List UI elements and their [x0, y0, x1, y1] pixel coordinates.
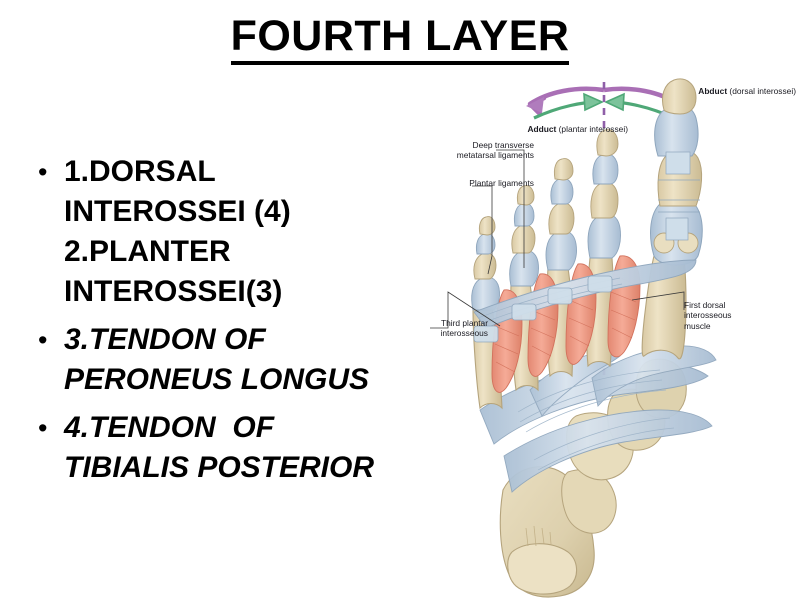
list-item-line: 4.TENDON OF [64, 408, 418, 448]
adduct-label-rest: (plantar interossei) [556, 124, 628, 134]
bullet-marker-icon: • [38, 320, 64, 360]
first-dorsal-interosseous-label: First dorsal interosseous muscle [684, 300, 794, 331]
page-title: FOURTH LAYER [231, 14, 570, 65]
adduct-label-bold: Adduct [527, 124, 556, 134]
foot-anatomy-figure: Abduct (dorsal interossei) Adduct (plant… [408, 60, 800, 600]
bullet-marker-icon: • [38, 152, 64, 192]
list-item: • 1.DORSAL INTEROSSEI (4) 2.PLANTER INTE… [38, 152, 418, 312]
page-title-block: FOURTH LAYER [0, 14, 800, 65]
list-item-text: 4.TENDON OF TIBIALIS POSTERIOR [64, 408, 418, 488]
bullet-marker-icon: • [38, 408, 64, 448]
list-item-text: 1.DORSAL INTEROSSEI (4) 2.PLANTER INTERO… [64, 152, 418, 312]
slide-canvas: FOURTH LAYER • 1.DORSAL INTEROSSEI (4) 2… [0, 0, 800, 600]
deep-transverse-ligaments-label: Deep transverse metatarsal ligaments [408, 140, 534, 161]
bullet-list: • 1.DORSAL INTEROSSEI (4) 2.PLANTER INTE… [38, 152, 418, 496]
list-item: • 4.TENDON OF TIBIALIS POSTERIOR [38, 408, 418, 488]
abduct-label: Abduct (dorsal interossei) [616, 76, 796, 97]
abduct-label-bold: Abduct [698, 86, 727, 96]
list-item-line: 2.PLANTER [64, 232, 418, 272]
list-item-line: INTEROSSEI (4) [64, 192, 418, 232]
adduct-label: Adduct (plantar interossei) [448, 114, 628, 135]
list-item-line: TIBIALIS POSTERIOR [64, 448, 418, 488]
list-item-line: 1.DORSAL [64, 152, 418, 192]
list-item-line: INTEROSSEI(3) [64, 272, 418, 312]
list-item-text: 3.TENDON OF PERONEUS LONGUS [64, 320, 418, 400]
abduct-label-rest: (dorsal interossei) [727, 86, 796, 96]
third-plantar-interosseous-label: Third plantar interosseous [408, 318, 488, 339]
list-item-line: PERONEUS LONGUS [64, 360, 418, 400]
list-item-line: 3.TENDON OF [64, 320, 418, 360]
plantar-ligaments-label: Plantar ligaments [408, 178, 534, 188]
list-item: • 3.TENDON OF PERONEUS LONGUS [38, 320, 418, 400]
hallux-phalanges [651, 79, 703, 265]
